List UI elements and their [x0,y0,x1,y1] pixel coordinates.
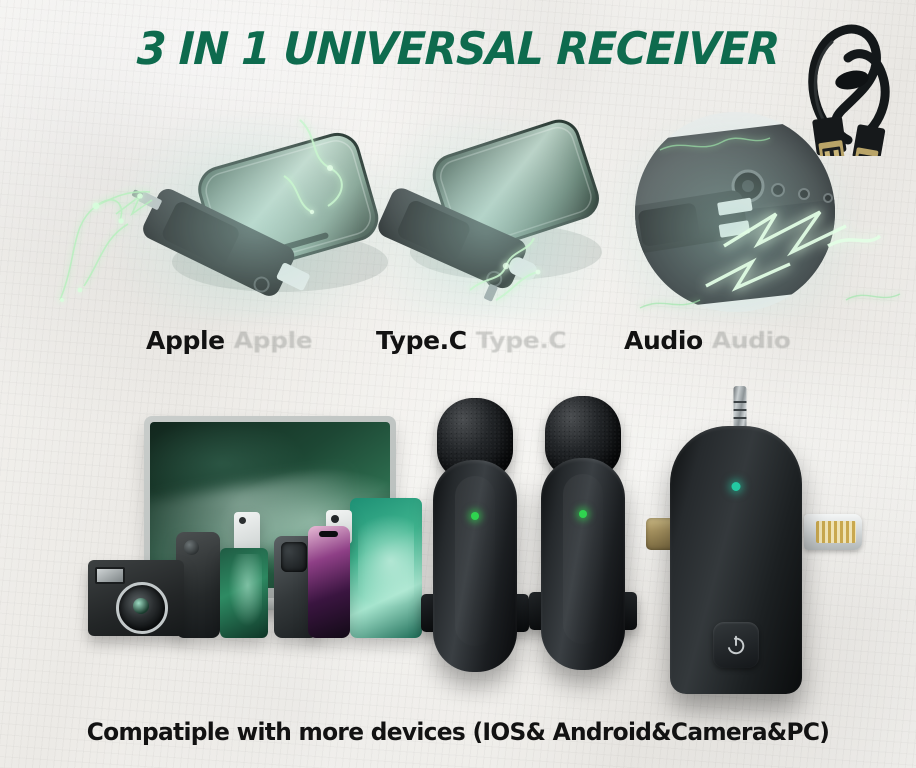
panel-glow [366,116,606,318]
mic-led-indicator [471,512,479,520]
device-smartphone-purple [308,526,350,638]
label-audio: AudioAudio [624,326,791,355]
label-typec-ghost: Type.C [476,327,567,353]
lavalier-microphone-right [528,396,638,696]
compatibility-caption: Compatiple with more devices (IOS& Andro… [14,718,903,746]
connector-labels: AppleApple Type.CType.C AudioAudio [0,326,916,362]
receiver-body [670,426,802,694]
universal-receiver [652,386,828,706]
hero-product-shot [0,372,916,714]
lightning-port-icon [804,514,862,550]
product-poster: 3 IN 1 UNIVERSAL RECEIVER [0,0,916,768]
page-title: 3 IN 1 UNIVERSAL RECEIVER [27,22,890,75]
label-audio-ghost: Audio [712,327,791,353]
panel-glow [120,116,390,318]
power-icon [725,634,747,656]
mic-body [433,460,517,672]
label-apple-ghost: Apple [234,327,313,353]
device-tablet-teal [350,498,422,638]
camera-viewfinder [95,567,125,584]
mic-led-indicator [579,510,587,518]
device-camera [88,560,184,636]
panel-typec [356,112,616,322]
lavalier-microphone-left [420,398,530,698]
label-typec: Type.CType.C [376,326,566,355]
connector-panels [0,112,916,322]
label-apple: AppleApple [146,326,312,355]
mic-body [541,458,625,670]
camera-lens [116,582,168,634]
device-smartphone-green [220,548,268,638]
compatible-devices-collage [88,416,448,684]
power-button[interactable] [713,622,759,668]
usb-charging-cable [786,8,912,156]
receiver-led-indicator [732,482,741,491]
